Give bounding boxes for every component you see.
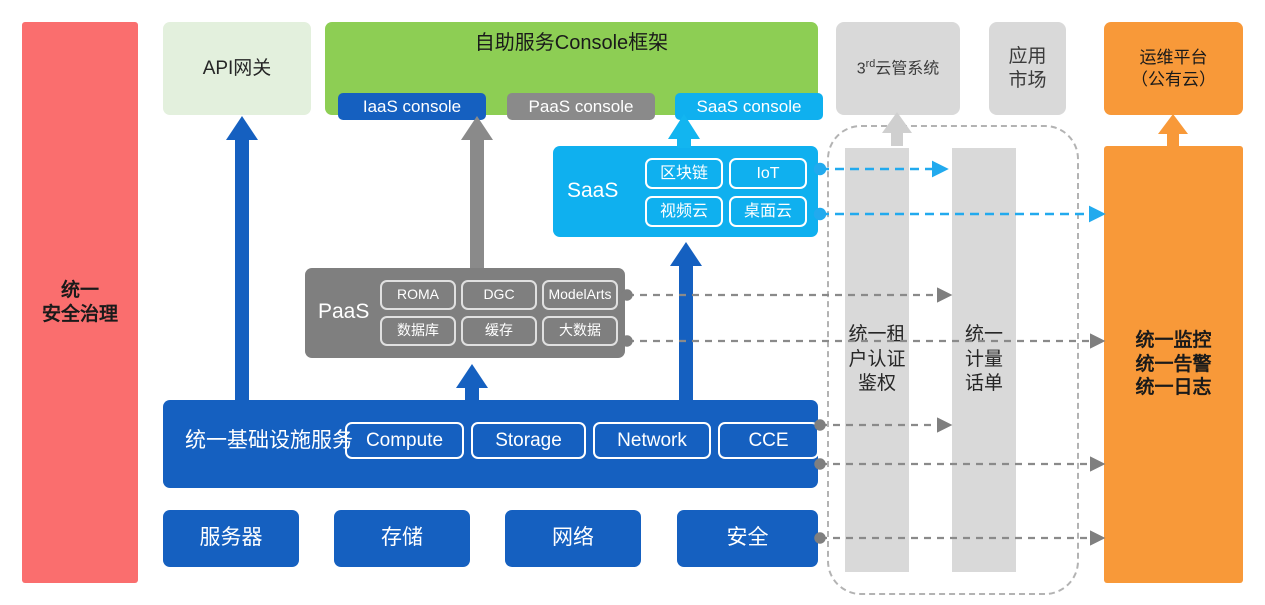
hardware-card-network-label: 网络 bbox=[552, 525, 594, 551]
third-party-cloud-mgmt-label: 3rd云管系统 bbox=[857, 58, 940, 79]
unified-metering-column: 统一 计量 话单 bbox=[952, 148, 1016, 572]
saas-item-iot[interactable]: IoT bbox=[729, 158, 807, 189]
infra-item-cce[interactable]: CCE bbox=[718, 422, 819, 459]
unified-tenant-auth-label: 统一租 户认证 鉴权 bbox=[848, 323, 905, 397]
infra-item-compute[interactable]: Compute bbox=[345, 422, 464, 459]
console-framework-box: 自助服务Console框架 IaaS console PaaS console … bbox=[325, 22, 818, 115]
unified-metering-label: 统一 计量 话单 bbox=[965, 323, 1003, 397]
arrow-infra-to-saas bbox=[670, 242, 702, 402]
ops-platform-public-cloud-box: 运维平台 （公有云） bbox=[1104, 22, 1243, 115]
saas-item-blockchain[interactable]: 区块链 bbox=[645, 158, 723, 189]
app-market-label: 应用 市场 bbox=[1008, 45, 1046, 93]
arrow-to-ops-platform bbox=[1158, 114, 1188, 148]
paas-item-bigdata[interactable]: 大数据 bbox=[542, 316, 618, 346]
unified-tenant-auth-column: 统一租 户认证 鉴权 bbox=[845, 148, 909, 572]
api-gateway-box: API网关 bbox=[163, 22, 311, 115]
app-market-box: 应用 市场 bbox=[989, 22, 1066, 115]
ops-platform-public-cloud-label: 运维平台 （公有云） bbox=[1131, 47, 1216, 90]
saas-label: SaaS bbox=[567, 178, 618, 204]
unified-infrastructure-bar: 统一基础设施服务 Compute Storage Network CCE bbox=[163, 400, 818, 488]
hardware-card-security-label: 安全 bbox=[727, 525, 769, 551]
security-governance-label: 统一 安全治理 bbox=[42, 279, 118, 327]
infra-item-network[interactable]: Network bbox=[593, 422, 711, 459]
hardware-card-storage: 存储 bbox=[334, 510, 470, 567]
saas-block: SaaS 区块链 IoT 视频云 桌面云 bbox=[553, 146, 818, 237]
paas-console-chip[interactable]: PaaS console bbox=[507, 93, 655, 120]
security-governance-pillar: 统一 安全治理 bbox=[22, 22, 138, 583]
paas-item-modelarts[interactable]: ModelArts bbox=[542, 280, 618, 310]
infra-item-storage[interactable]: Storage bbox=[471, 422, 586, 459]
saas-item-video-cloud[interactable]: 视频云 bbox=[645, 196, 723, 227]
third-party-cloud-mgmt-box: 3rd云管系统 bbox=[836, 22, 960, 115]
unified-infrastructure-label: 统一基础设施服务 bbox=[185, 428, 353, 454]
saas-item-desktop-cloud[interactable]: 桌面云 bbox=[729, 196, 807, 227]
hardware-card-storage-label: 存储 bbox=[381, 525, 423, 551]
arrow-infra-to-api-gateway bbox=[226, 116, 258, 400]
hardware-card-server: 服务器 bbox=[163, 510, 299, 567]
unified-monitoring-label: 统一监控 统一告警 统一日志 bbox=[1135, 329, 1211, 400]
hardware-card-server-label: 服务器 bbox=[200, 525, 263, 551]
hardware-card-security: 安全 bbox=[677, 510, 818, 567]
paas-block: PaaS ROMA DGC ModelArts 数据库 缓存 大数据 bbox=[305, 268, 625, 358]
hardware-card-network: 网络 bbox=[505, 510, 641, 567]
arrow-paas-to-console bbox=[461, 116, 493, 268]
iaas-console-chip[interactable]: IaaS console bbox=[338, 93, 486, 120]
console-framework-title: 自助服务Console框架 bbox=[325, 31, 818, 56]
paas-item-cache[interactable]: 缓存 bbox=[461, 316, 537, 346]
paas-item-roma[interactable]: ROMA bbox=[380, 280, 456, 310]
paas-item-database[interactable]: 数据库 bbox=[380, 316, 456, 346]
saas-console-chip[interactable]: SaaS console bbox=[675, 93, 823, 120]
paas-item-dgc[interactable]: DGC bbox=[461, 280, 537, 310]
unified-monitoring-pillar: 统一监控 统一告警 统一日志 bbox=[1104, 146, 1243, 583]
architecture-diagram: 统一 安全治理 API网关 自助服务Console框架 IaaS console… bbox=[0, 0, 1265, 605]
arrow-infra-to-paas bbox=[456, 364, 488, 402]
api-gateway-label: API网关 bbox=[203, 57, 272, 81]
paas-label: PaaS bbox=[318, 299, 369, 325]
